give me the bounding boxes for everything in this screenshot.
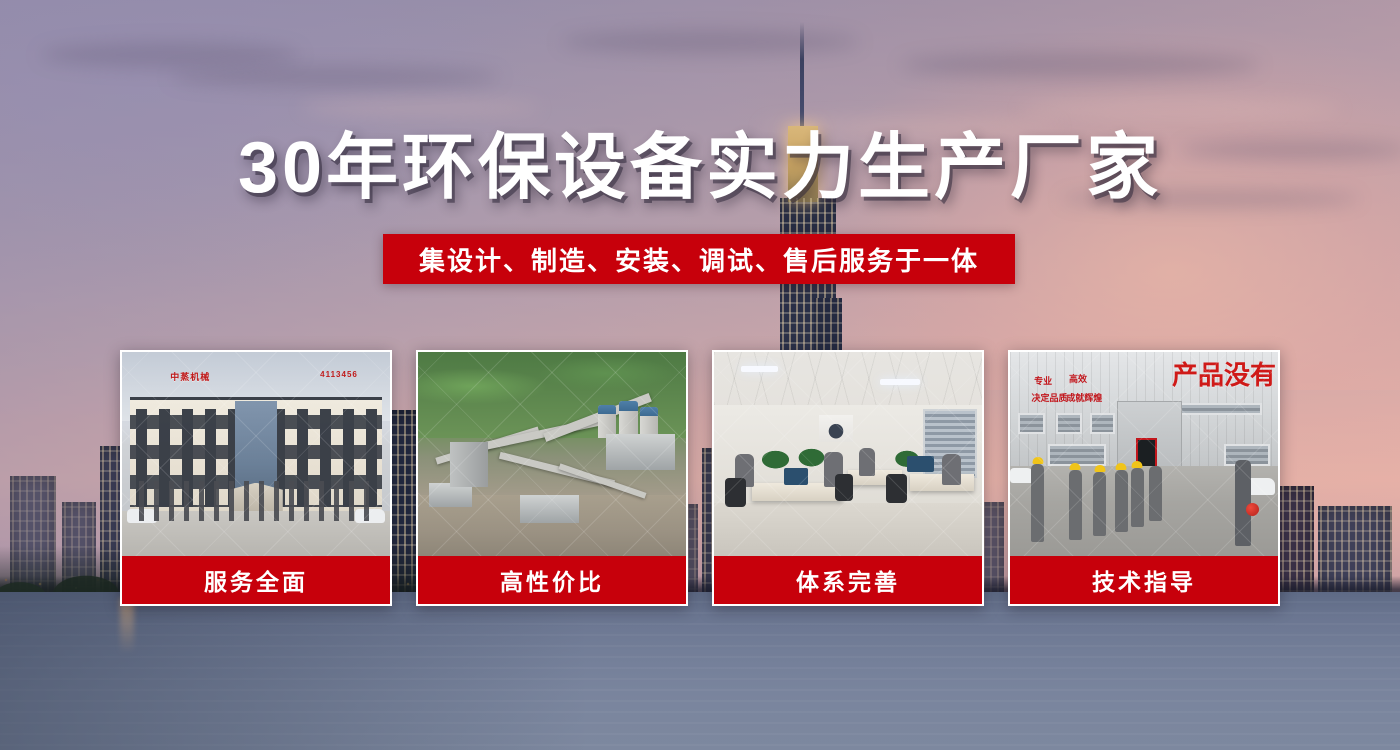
feature-card-list: 中蒸机械 4113456 服务全面 [120, 350, 1280, 606]
worker-figure [1115, 470, 1128, 531]
feature-card-value[interactable]: 高性价比 [416, 350, 688, 606]
card-label-text: 体系完善 [796, 563, 900, 597]
building-phone-text: 4113456 [320, 370, 358, 379]
card-label-bar: 服务全面 [122, 556, 390, 604]
aerial-plant-photo [418, 352, 686, 556]
worker-figure [1149, 466, 1162, 521]
wall-poster [819, 415, 854, 442]
card-label-bar: 体系完善 [714, 556, 982, 604]
card-label-text: 高性价比 [500, 563, 604, 597]
worker-figure [1093, 472, 1106, 535]
water-reflection [120, 598, 134, 654]
feature-card-system[interactable]: 体系完善 [712, 350, 984, 606]
office-interior-photo [714, 352, 982, 556]
card-label-text: 服务全面 [204, 563, 308, 597]
factory-slogan-large: 产品没有 [1172, 355, 1276, 392]
card-label-bar: 高性价比 [418, 556, 686, 604]
cloud-shape [40, 42, 300, 68]
worker-figure [1031, 464, 1044, 542]
factory-slogan-small: 决定品质 [1031, 391, 1067, 404]
factory-slogan-small: 专业 [1034, 374, 1052, 387]
cloud-shape [1020, 98, 1340, 120]
factory-slogan-small: 成就辉煌 [1066, 391, 1102, 404]
cloud-shape [300, 100, 540, 116]
banner-stage: 30年环保设备实力生产厂家 集设计、制造、安装、调试、售后服务于一体 中蒸机械 … [0, 0, 1400, 750]
river-water [0, 592, 1400, 750]
cloud-shape [170, 66, 500, 88]
page-title: 30年环保设备实力生产厂家 [0, 132, 1400, 204]
company-building-photo: 中蒸机械 4113456 [122, 352, 390, 556]
subtitle-text: 集设计、制造、安装、调试、售后服务于一体 [419, 241, 979, 278]
worker-figure [1131, 468, 1144, 527]
subtitle-banner: 集设计、制造、安装、调试、售后服务于一体 [383, 234, 1015, 284]
tower-spire [800, 22, 804, 128]
cloud-shape [900, 52, 1260, 78]
building-signage-text: 中蒸机械 [170, 370, 210, 383]
card-label-bar: 技术指导 [1010, 556, 1278, 604]
cloud-shape [560, 30, 860, 54]
card-label-text: 技术指导 [1092, 563, 1196, 597]
factory-slogan-small: 高效 [1069, 372, 1087, 385]
factory-workers-photo: 产品没有 专业 高效 决定品质 成就辉煌 [1010, 352, 1278, 556]
feature-card-training[interactable]: 产品没有 专业 高效 决定品质 成就辉煌 [1008, 350, 1280, 606]
feature-card-service[interactable]: 中蒸机械 4113456 服务全面 [120, 350, 392, 606]
worker-figure [1069, 470, 1082, 539]
